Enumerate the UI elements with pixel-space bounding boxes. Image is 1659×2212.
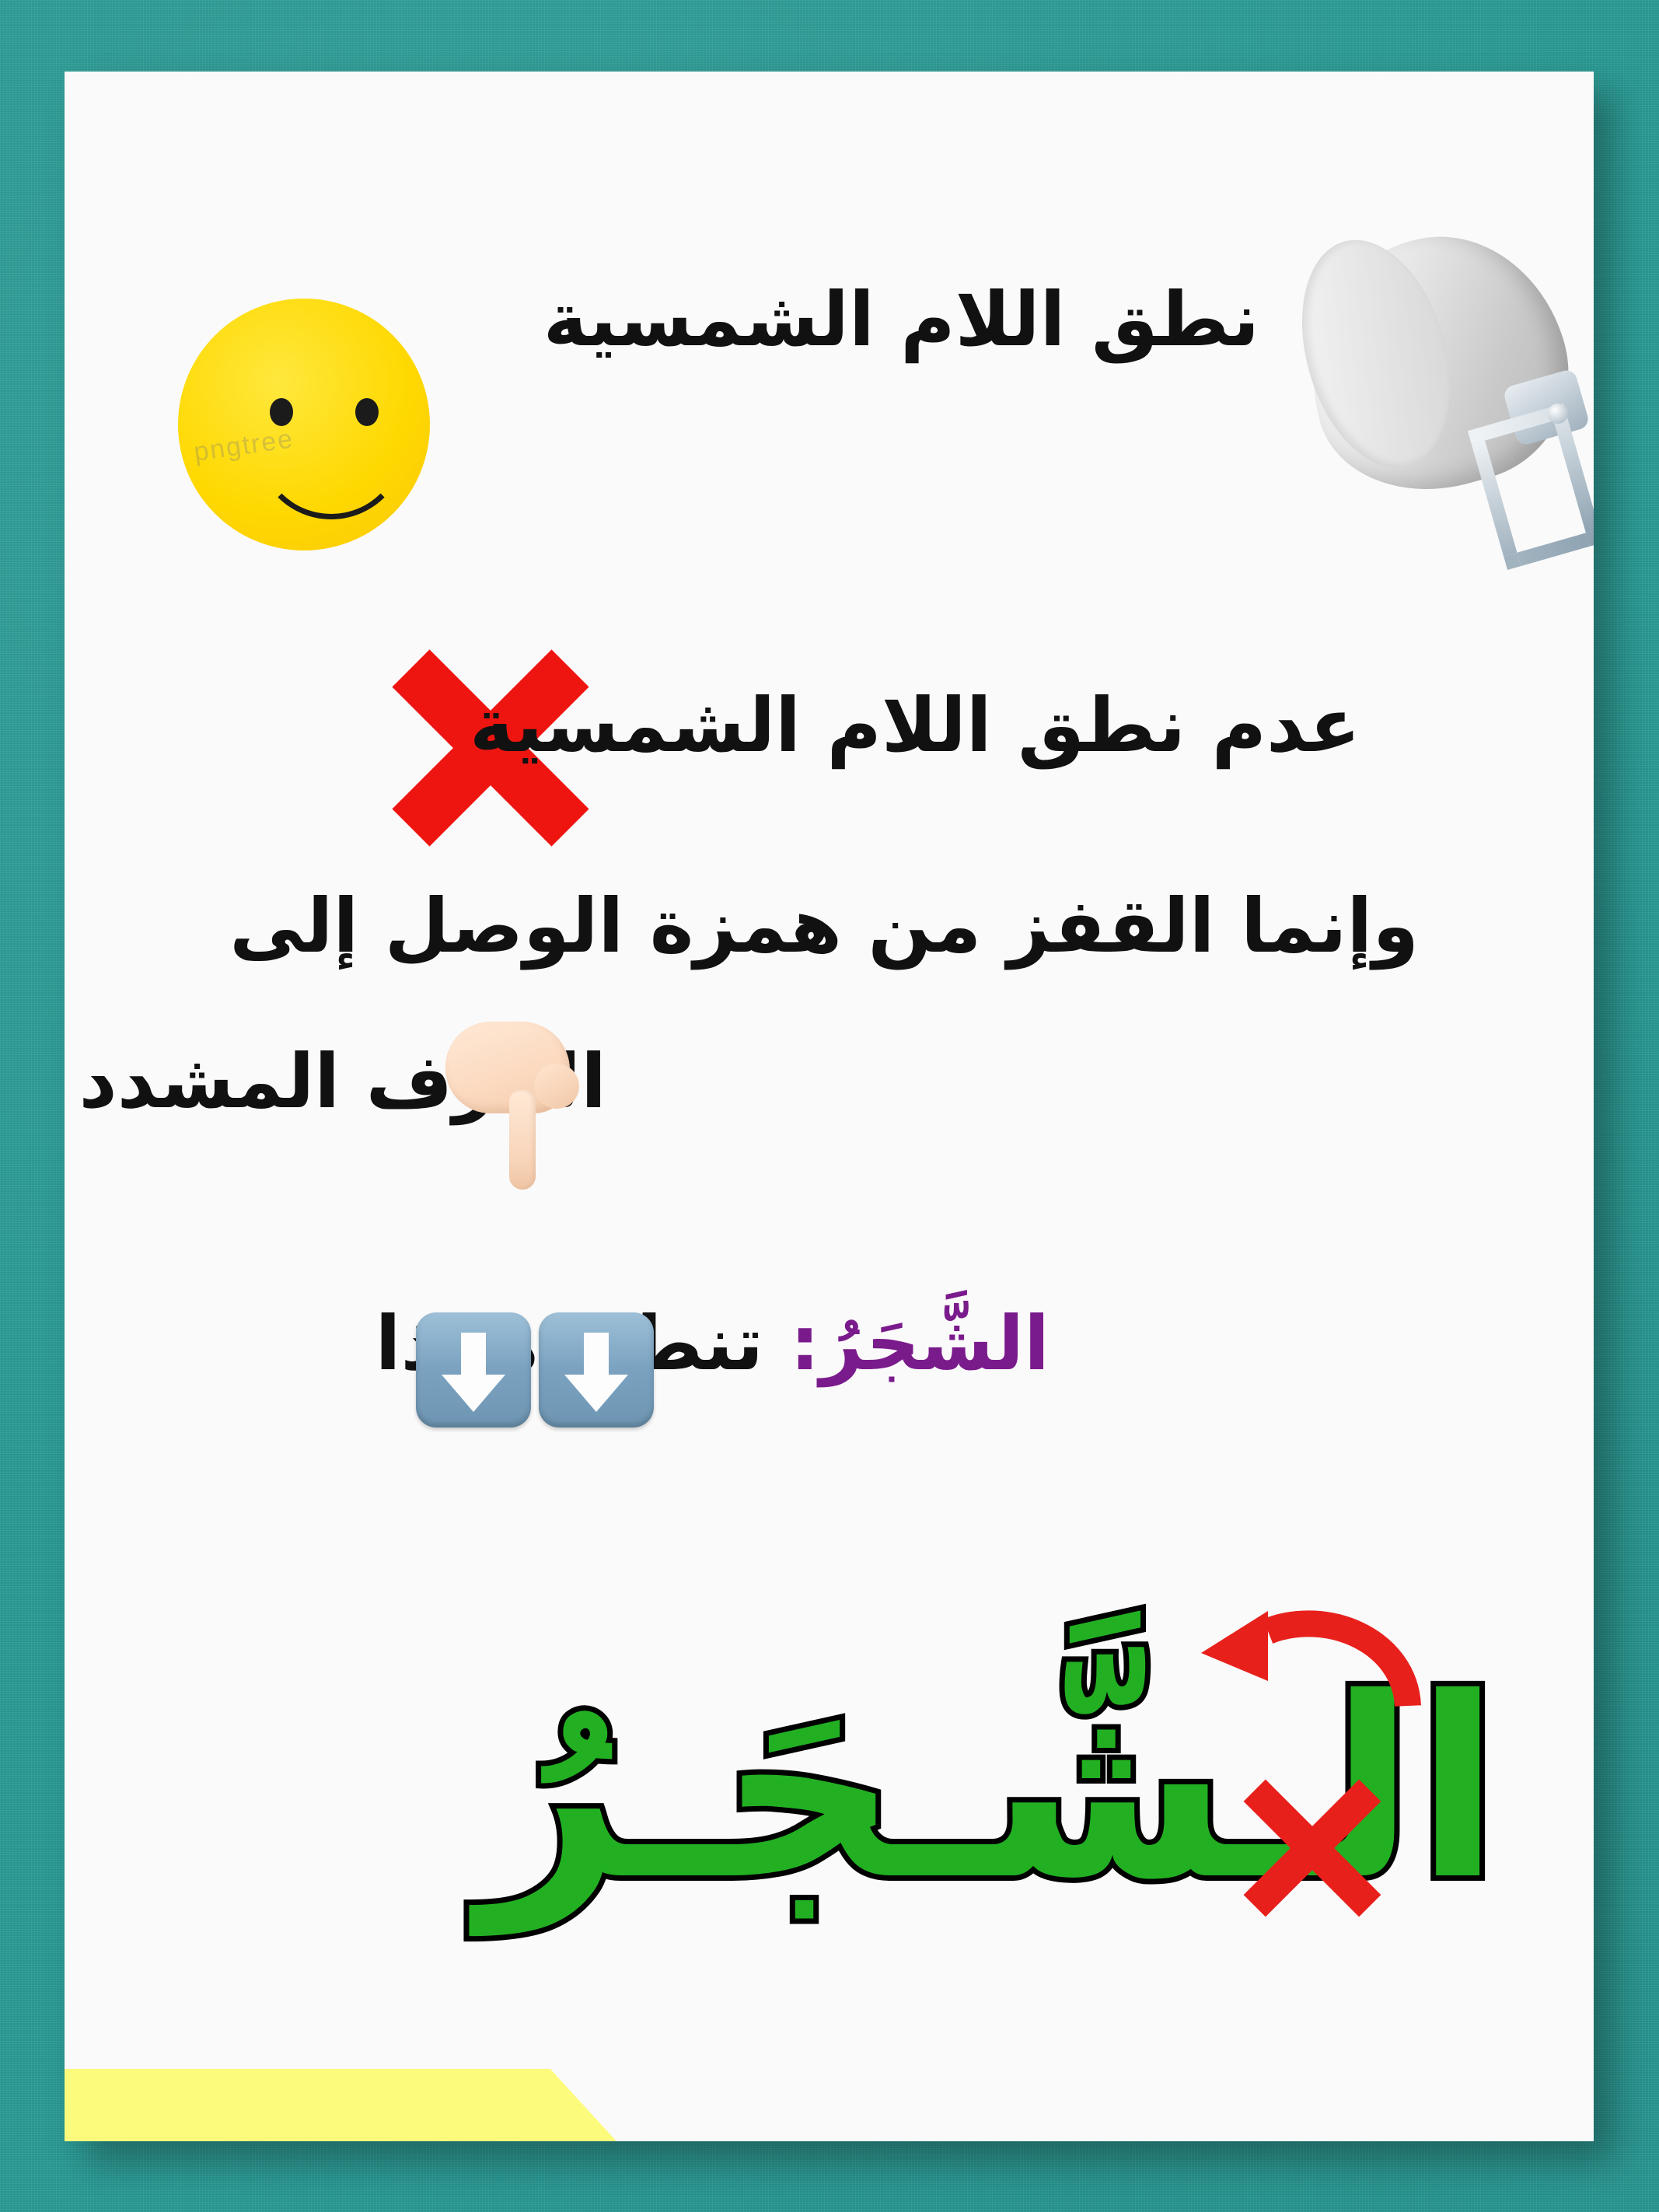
sun-face: pngtree [178, 299, 430, 550]
loudspeaker-icon [1301, 223, 1594, 573]
red-curved-arrow-icon [1175, 1597, 1431, 1768]
down-arrow-key-icon [416, 1312, 531, 1427]
hand-index-finger [509, 1090, 536, 1190]
sun-eye-right [355, 398, 379, 426]
yellow-ribbon [65, 2069, 616, 2141]
lesson-card: pngtree نطق اللام الشمسية عدم نطق اللام … [65, 72, 1594, 2141]
negation-line: عدم نطق اللام الشمسية [360, 686, 1360, 767]
down-arrow-key-icon [539, 1312, 654, 1427]
pointing-down-hand-icon [441, 1019, 578, 1197]
smiling-sun-icon: pngtree [141, 261, 467, 588]
sun-eye-left [270, 398, 293, 426]
example-word: الشَّجَرُ: [790, 1304, 1050, 1385]
speaker-bolt [1548, 404, 1568, 424]
rule-line-a: وإنما القفز من همزة الوصل إلى [298, 886, 1419, 967]
page-title: نطق اللام الشمسية [547, 280, 1259, 361]
rule-a-text: وإنما القفز من همزة الوصل إلى [229, 886, 1419, 967]
negation-text: عدم نطق اللام الشمسية [470, 686, 1360, 767]
down-arrow-keys [416, 1312, 654, 1427]
title-text: نطق اللام الشمسية [543, 280, 1259, 361]
hand-thumb [534, 1064, 579, 1109]
strike-through-x-icon [1238, 1774, 1386, 1922]
